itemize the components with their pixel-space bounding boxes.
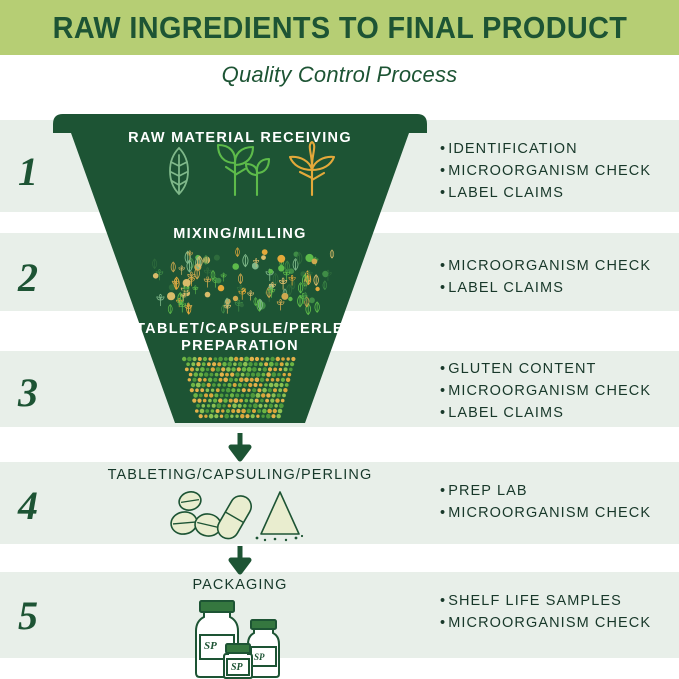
bullet-icon: • — [440, 383, 446, 399]
check-item: •LABEL CLAIMS — [440, 182, 651, 204]
header-bar: RAW INGREDIENTS TO FINAL PRODUCT — [0, 0, 679, 55]
checklist-2: •MICROORGANISM CHECK•LABEL CLAIMS — [440, 255, 651, 299]
bullet-icon: • — [440, 280, 446, 296]
checklist-3: •GLUTEN CONTENT•MICROORGANISM CHECK•LABE… — [440, 358, 651, 424]
check-item: •MICROORGANISM CHECK — [440, 380, 651, 402]
checklist-1: •IDENTIFICATION•MICROORGANISM CHECK•LABE… — [440, 138, 651, 204]
check-item-label: MICROORGANISM CHECK — [448, 163, 651, 179]
checklist-4: •PREP LAB•MICROORGANISM CHECK — [440, 480, 651, 524]
step-number-5: 5 — [18, 592, 38, 639]
check-item: •LABEL CLAIMS — [440, 402, 651, 424]
check-item-label: LABEL CLAIMS — [448, 280, 564, 296]
bullet-icon: • — [440, 185, 446, 201]
stage-label-5: PACKAGING — [40, 577, 440, 593]
bullet-icon: • — [440, 141, 446, 157]
check-item: •IDENTIFICATION — [440, 138, 651, 160]
bullet-icon: • — [440, 593, 446, 609]
check-item-label: MICROORGANISM CHECK — [448, 505, 651, 521]
check-item-label: SHELF LIFE SAMPLES — [448, 593, 622, 609]
check-item-label: IDENTIFICATION — [448, 141, 578, 157]
check-item-label: LABEL CLAIMS — [448, 405, 564, 421]
bullet-icon: • — [440, 483, 446, 499]
checklist-5: •SHELF LIFE SAMPLES•MICROORGANISM CHECK — [440, 590, 651, 634]
bottle-label-small: SP — [231, 662, 244, 673]
check-item-label: MICROORGANISM CHECK — [448, 615, 651, 631]
stage-label-1: RAW MATERIAL RECEIVING — [60, 130, 420, 147]
bullet-icon: • — [440, 505, 446, 521]
step-number-4: 4 — [18, 482, 38, 529]
check-item: •PREP LAB — [440, 480, 651, 502]
check-item-label: MICROORGANISM CHECK — [448, 258, 651, 274]
check-item-label: MICROORGANISM CHECK — [448, 383, 651, 399]
stage-label-3-line1: TABLET/CAPSULE/PERLE — [136, 321, 344, 337]
check-item-label: LABEL CLAIMS — [448, 185, 564, 201]
stage-label-4: TABLETING/CAPSULING/PERLING — [40, 467, 440, 483]
check-item: •MICROORGANISM CHECK — [440, 160, 651, 182]
page-title: RAW INGREDIENTS TO FINAL PRODUCT — [52, 10, 627, 46]
bullet-icon: • — [440, 163, 446, 179]
check-item: •MICROORGANISM CHECK — [440, 612, 651, 634]
check-item-label: GLUTEN CONTENT — [448, 361, 596, 377]
bullet-icon: • — [440, 615, 446, 631]
infographic-canvas: RAW INGREDIENTS TO FINAL PRODUCT Quality… — [0, 0, 679, 679]
bullet-icon: • — [440, 361, 446, 377]
arrow-to-tableting — [225, 432, 255, 462]
bottle-label-big: SP — [204, 640, 217, 652]
stage-label-3-line2: PREPARATION — [181, 338, 299, 354]
tablets-capsule-powder-icon — [168, 486, 313, 544]
page-subtitle: Quality Control Process — [0, 62, 679, 88]
check-item-label: PREP LAB — [448, 483, 527, 499]
bottle-label-medium: SP — [254, 652, 265, 662]
bullet-icon: • — [440, 258, 446, 274]
check-item: •LABEL CLAIMS — [440, 277, 651, 299]
bullet-icon: • — [440, 405, 446, 421]
check-item: •SHELF LIFE SAMPLES — [440, 590, 651, 612]
step-number-3: 3 — [18, 369, 38, 416]
arrow-to-packaging — [225, 545, 255, 575]
bottles-icon: SP SP SP — [182, 597, 292, 679]
stage-label-3: TABLET/CAPSULE/PERLE PREPARATION — [120, 321, 360, 355]
step-number-1: 1 — [18, 148, 38, 195]
stage-label-2: MIXING/MILLING — [60, 226, 420, 243]
check-item: •MICROORGANISM CHECK — [440, 502, 651, 524]
step-number-2: 2 — [18, 254, 38, 301]
check-item: •MICROORGANISM CHECK — [440, 255, 651, 277]
check-item: •GLUTEN CONTENT — [440, 358, 651, 380]
